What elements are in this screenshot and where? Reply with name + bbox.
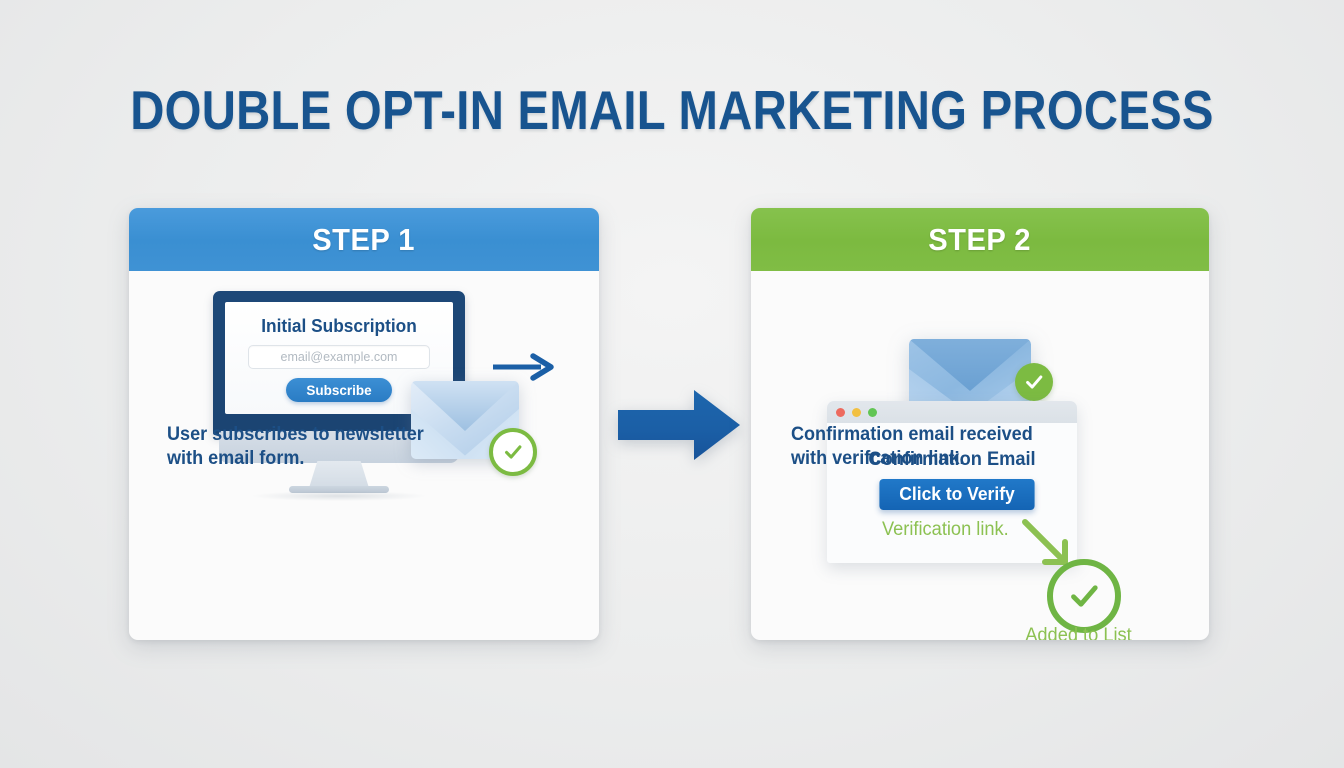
email-input[interactable]: email@example.com [248,345,430,369]
page-title: DOUBLE OPT-IN EMAIL MARKETING PROCESS [94,78,1250,142]
step2-header-label: STEP 2 [929,222,1032,258]
step2-body: Confirmation Email Click to Verify Verif… [751,271,1209,640]
arrow-right-large-icon [616,388,742,462]
step2-header: STEP 2 [751,208,1209,271]
check-circle-filled-icon [1015,363,1053,401]
step2-card: STEP 2 Confir [751,208,1209,640]
added-to-list-label: Added to List [1014,625,1144,640]
check-circle-icon [489,428,537,476]
step1-card: STEP 1 Initial Subscription email@exampl… [129,208,599,640]
step1-header-label: STEP 1 [313,222,416,258]
window-minimize-dot-icon[interactable] [852,408,861,417]
monitor-shadow [253,491,425,501]
step1-header: STEP 1 [129,208,599,271]
check-circle-icon [1047,559,1121,633]
step1-caption: User subscribes to newsletter with email… [167,423,424,471]
verification-link-text[interactable]: Verification link. [882,519,1009,541]
check-mark-glyph [1023,371,1045,393]
check-mark-glyph [1066,578,1102,614]
arrow-right-icon [489,349,559,385]
step2-caption: Confirmation email received with verifca… [791,423,1033,471]
subscribe-button[interactable]: Subscribe [286,378,392,402]
check-mark-glyph [502,441,524,463]
infographic-canvas: DOUBLE OPT-IN EMAIL MARKETING PROCESS ST… [0,0,1344,768]
step1-body: Initial Subscription email@example.com S… [129,271,599,640]
click-to-verify-button[interactable]: Click to Verify [879,479,1034,510]
window-maximize-dot-icon[interactable] [868,408,877,417]
window-close-dot-icon[interactable] [836,408,845,417]
browser-title-bar [827,401,1077,423]
subscription-form-heading: Initial Subscription [230,316,449,337]
